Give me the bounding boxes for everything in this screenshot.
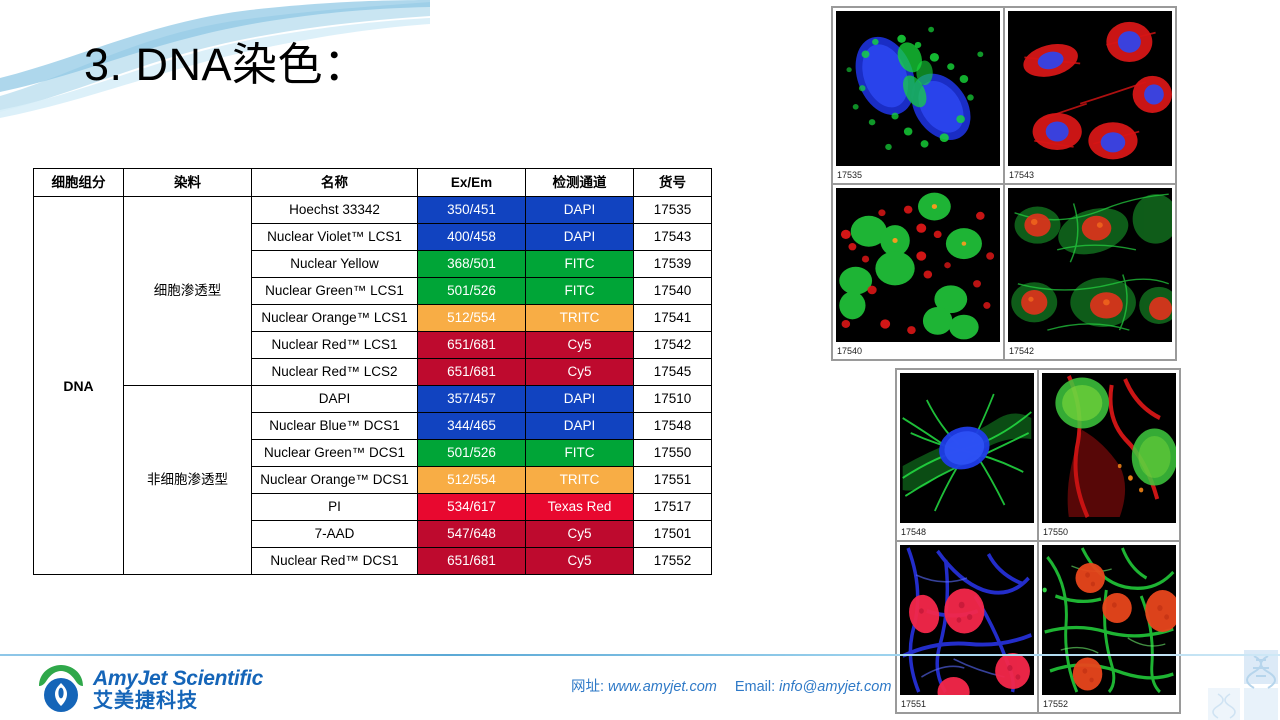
website-label: 网址:: [571, 679, 604, 695]
micrograph-image-17535: [836, 11, 1000, 166]
cell-dye-name: Nuclear Green™ DCS1: [252, 440, 418, 467]
cell-channel: DAPI: [526, 224, 634, 251]
cell-exem: 368/501: [418, 251, 526, 278]
cell-catalog: 17550: [634, 440, 712, 467]
cell-dye-name: Nuclear Red™ DCS1: [252, 548, 418, 575]
cell-catalog: 17535: [634, 197, 712, 224]
micrograph-image-17548: [900, 373, 1034, 523]
email-address[interactable]: info@amyjet.com: [775, 679, 891, 695]
cell-channel: TRITC: [526, 467, 634, 494]
cell-catalog: 17510: [634, 386, 712, 413]
cell-dye-name: 7-AAD: [252, 521, 418, 548]
micrograph-cell-17542[interactable]: 17542: [1004, 184, 1176, 361]
cell-catalog: 17539: [634, 251, 712, 278]
brand-name-cn: 艾美捷科技: [93, 690, 263, 712]
micrograph-image-17543: [1008, 11, 1172, 166]
cell-catalog: 17548: [634, 413, 712, 440]
micrograph-image-17551: [900, 545, 1034, 695]
micrograph-caption: 17550: [1039, 526, 1179, 540]
cell-exem: 534/617: [418, 494, 526, 521]
company-logo: AmyJet Scientific 艾美捷科技: [35, 664, 263, 714]
cell-channel: Cy5: [526, 521, 634, 548]
cell-exem: 547/648: [418, 521, 526, 548]
cell-catalog: 17552: [634, 548, 712, 575]
micrograph-image-17550: [1042, 373, 1176, 523]
col-header-name: 名称: [252, 169, 418, 197]
cell-dye-name: Nuclear Green™ LCS1: [252, 278, 418, 305]
cell-channel: Cy5: [526, 332, 634, 359]
micrograph-caption: 17540: [833, 345, 1003, 359]
dye-table: 细胞组分 染料 名称 Ex/Em 检测通道 货号 DNA细胞渗透型Hoechst…: [33, 168, 712, 575]
website-url[interactable]: www.amyjet.com: [604, 679, 717, 695]
micrograph-grid-bottom: 17548 17550: [895, 368, 1181, 714]
amyjet-logo-icon: [35, 664, 87, 714]
micrograph-image-17540: [836, 188, 1000, 343]
cell-channel: DAPI: [526, 386, 634, 413]
cell-exem: 344/465: [418, 413, 526, 440]
table-row: DNA细胞渗透型Hoechst 33342350/451DAPI17535: [34, 197, 712, 224]
cell-exem: 501/526: [418, 278, 526, 305]
micrograph-cell-17540[interactable]: 17540: [832, 184, 1004, 361]
cell-dye-name: Nuclear Blue™ DCS1: [252, 413, 418, 440]
cell-exem: 512/554: [418, 305, 526, 332]
cell-exem: 512/554: [418, 467, 526, 494]
email-label: Email:: [735, 679, 775, 695]
cell-catalog: 17541: [634, 305, 712, 332]
cell-exem: 501/526: [418, 440, 526, 467]
cell-exem: 651/681: [418, 359, 526, 386]
col-header-dye: 染料: [124, 169, 252, 197]
cell-catalog: 17551: [634, 467, 712, 494]
cell-channel: Cy5: [526, 548, 634, 575]
micrograph-cell-17543[interactable]: 17543: [1004, 7, 1176, 184]
cell-exem: 651/681: [418, 548, 526, 575]
cell-dye-type: 细胞渗透型: [124, 197, 252, 386]
cell-catalog: 17543: [634, 224, 712, 251]
cell-catalog: 17501: [634, 521, 712, 548]
col-header-component: 细胞组分: [34, 169, 124, 197]
micrograph-caption: 17535: [833, 169, 1003, 183]
micrograph-caption: 17551: [897, 698, 1037, 712]
cell-catalog: 17545: [634, 359, 712, 386]
cell-catalog: 17540: [634, 278, 712, 305]
footer-contact-info: 网址: www.amyjet.comEmail: info@amyjet.com: [571, 675, 891, 696]
footer-divider: [0, 654, 1280, 656]
cell-channel: DAPI: [526, 413, 634, 440]
cell-dye-name: Nuclear Orange™ DCS1: [252, 467, 418, 494]
micrograph-cell-17551[interactable]: 17551: [896, 541, 1038, 713]
cell-dye-name: Nuclear Red™ LCS2: [252, 359, 418, 386]
cell-exem: 357/457: [418, 386, 526, 413]
page-title: 3. DNA染色：: [84, 28, 369, 93]
micrograph-caption: 17548: [897, 526, 1037, 540]
micrograph-cell-17552[interactable]: 17552: [1038, 541, 1180, 713]
cell-channel: TRITC: [526, 305, 634, 332]
micrograph-grid-top: 17535: [831, 6, 1177, 361]
micrograph-cell-17548[interactable]: 17548: [896, 369, 1038, 541]
cell-dye-name: Nuclear Red™ LCS1: [252, 332, 418, 359]
cell-channel: FITC: [526, 440, 634, 467]
table-row: 非细胞渗透型DAPI357/457DAPI17510: [34, 386, 712, 413]
cell-channel: FITC: [526, 251, 634, 278]
dye-table-container: 细胞组分 染料 名称 Ex/Em 检测通道 货号 DNA细胞渗透型Hoechst…: [33, 168, 712, 575]
cell-component: DNA: [34, 197, 124, 575]
col-header-channel: 检测通道: [526, 169, 634, 197]
col-header-exem: Ex/Em: [418, 169, 526, 197]
company-logo-text: AmyJet Scientific 艾美捷科技: [93, 667, 263, 712]
micrograph-cell-17535[interactable]: 17535: [832, 7, 1004, 184]
cell-dye-name: Nuclear Orange™ LCS1: [252, 305, 418, 332]
cell-exem: 400/458: [418, 224, 526, 251]
cell-dye-name: Hoechst 33342: [252, 197, 418, 224]
cell-channel: FITC: [526, 278, 634, 305]
brand-name-en: AmyJet Scientific: [93, 667, 263, 690]
micrograph-cell-17550[interactable]: 17550: [1038, 369, 1180, 541]
cell-catalog: 17517: [634, 494, 712, 521]
cell-channel: DAPI: [526, 197, 634, 224]
cell-dye-name: Nuclear Yellow: [252, 251, 418, 278]
micrograph-caption: 17543: [1005, 169, 1175, 183]
cell-catalog: 17542: [634, 332, 712, 359]
micrograph-caption: 17552: [1039, 698, 1179, 712]
col-header-catalog: 货号: [634, 169, 712, 197]
cell-dye-name: DAPI: [252, 386, 418, 413]
cell-dye-name: Nuclear Violet™ LCS1: [252, 224, 418, 251]
micrograph-image-17542: [1008, 188, 1172, 343]
cell-channel: Texas Red: [526, 494, 634, 521]
cell-dye-type: 非细胞渗透型: [124, 386, 252, 575]
cell-exem: 651/681: [418, 332, 526, 359]
cell-channel: Cy5: [526, 359, 634, 386]
cell-dye-name: PI: [252, 494, 418, 521]
cell-exem: 350/451: [418, 197, 526, 224]
table-header-row: 细胞组分 染料 名称 Ex/Em 检测通道 货号: [34, 169, 712, 197]
micrograph-caption: 17542: [1005, 345, 1175, 359]
micrograph-image-17552: [1042, 545, 1176, 695]
